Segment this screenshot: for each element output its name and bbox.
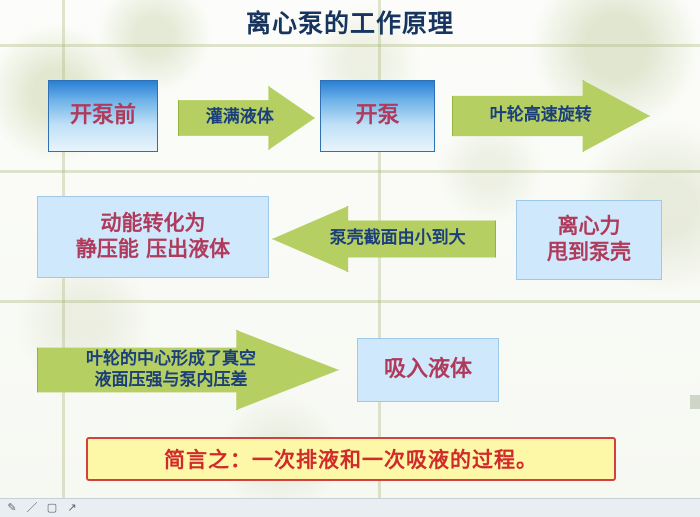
box-before-pump-label: 开泵前 (70, 103, 136, 130)
arrow-impeller-spin: 叶轮高速旋转 (452, 80, 650, 152)
arrow-vacuum-center-line2: 液面压强与泵内压差 (95, 370, 248, 390)
square-icon[interactable]: ▢ (46, 502, 58, 514)
arrow-casing-section: 泵壳截面由小到大 (272, 206, 496, 272)
page-title: 离心泵的工作原理 (0, 4, 700, 40)
box-before-pump: 开泵前 (48, 80, 158, 152)
box-suction-label: 吸入液体 (384, 357, 472, 384)
arrow-icon[interactable]: ↗ (66, 502, 78, 514)
arrow-casing-section-label: 泵壳截面由小到大 (330, 228, 466, 249)
box-centrifugal-force-line1: 离心力 (558, 214, 621, 240)
arrow-vacuum-center: 叶轮的中心形成了真空 液面压强与泵内压差 (37, 330, 339, 410)
summary-banner-text: 简言之：一次排液和一次吸液的过程。 (164, 444, 538, 474)
background-grid-line (0, 170, 700, 173)
slide-canvas: 离心泵的工作原理 开泵前 灌满液体 开泵 叶轮高速旋转 动能转化为 静压能 压出… (0, 0, 700, 517)
box-energy-convert-line2: 静压能 压出液体 (76, 237, 230, 263)
edge-marker (690, 395, 700, 409)
background-grid-line (0, 300, 700, 303)
arrow-vacuum-center-text: 叶轮的中心形成了真空 液面压强与泵内压差 (86, 349, 256, 392)
slash-icon[interactable]: ／ (26, 502, 38, 514)
box-pump-on: 开泵 (320, 80, 435, 152)
arrow-impeller-spin-label: 叶轮高速旋转 (490, 105, 592, 126)
box-energy-convert-line1: 动能转化为 (101, 211, 206, 237)
box-pump-on-label: 开泵 (355, 103, 399, 130)
box-centrifugal-force-line2: 甩到泵壳 (547, 240, 631, 266)
arrow-fill-liquid-label: 灌满液体 (206, 107, 274, 128)
arrow-vacuum-center-line1: 叶轮的中心形成了真空 (86, 349, 256, 369)
summary-banner: 简言之：一次排液和一次吸液的过程。 (86, 437, 616, 481)
player-toolbar[interactable]: ✎ ／ ▢ ↗ (0, 498, 700, 517)
background-grid-line (0, 44, 700, 47)
arrow-fill-liquid: 灌满液体 (178, 86, 315, 150)
pencil-icon[interactable]: ✎ (6, 502, 18, 514)
box-centrifugal-force: 离心力 甩到泵壳 (516, 200, 662, 280)
box-energy-convert: 动能转化为 静压能 压出液体 (37, 196, 269, 278)
box-suction: 吸入液体 (357, 338, 499, 402)
